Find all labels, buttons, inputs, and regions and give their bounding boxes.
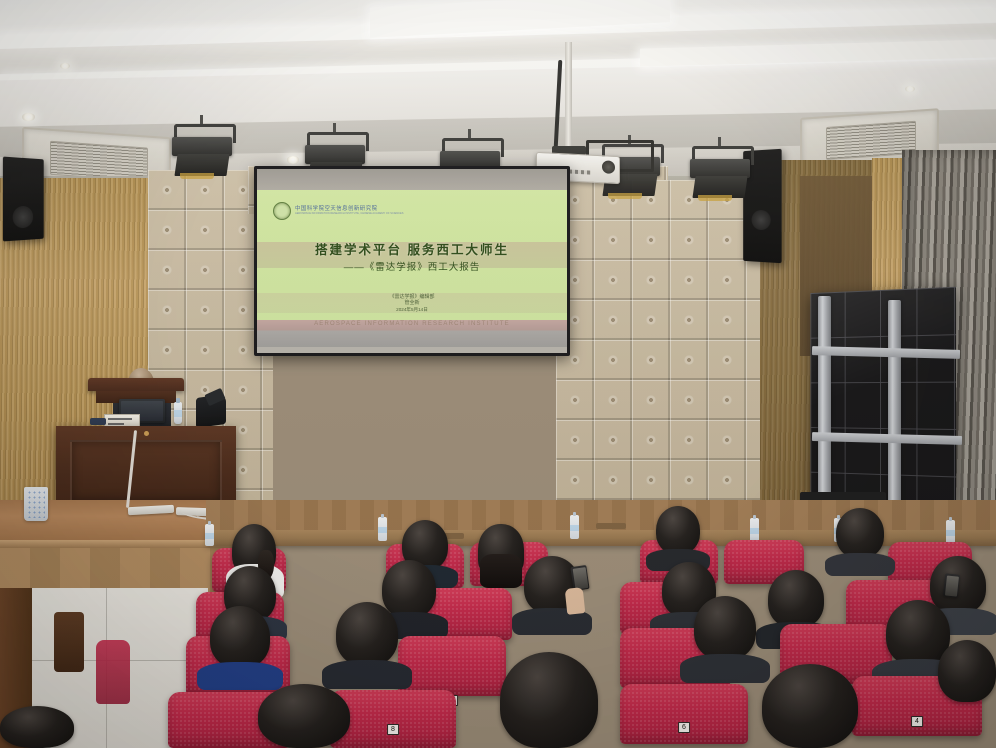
slide-org-subline: AEROSPACE INFORMATION RESEARCH INSTITUTE… [295,212,404,215]
seat-number: 6 [678,722,690,733]
screen-bottom-text: AEROSPACE INFORMATION RESEARCH INSTITUTE [257,320,567,329]
led-stand-post-right [888,300,901,530]
audience-person-foreground [762,664,858,748]
audience-person [656,506,700,554]
downlight [22,113,35,121]
audience-person [210,606,270,668]
audience-person [938,640,996,702]
seat[interactable]: 4 [398,636,506,696]
screen-unlit-top [257,169,567,191]
desk-object [90,418,106,425]
audience-person [694,596,756,660]
water-bottle-podium [174,402,182,424]
hand [565,587,586,615]
audience-person-foreground [0,706,74,748]
audience-person [836,508,884,558]
downlight [905,86,915,92]
water-bottle [750,518,759,542]
institute-logo-icon [273,202,291,220]
stage-light [690,146,752,202]
audience-person-foreground [258,684,350,748]
slide-subtitle: ——《雷达学报》西工大报告 [257,262,567,274]
water-bottle [946,520,955,544]
seat-number: 8 [387,724,399,735]
screen-lower-band: AEROSPACE INFORMATION RESEARCH INSTITUTE [257,320,567,347]
podium-header [88,378,184,391]
waste-bin [24,487,48,521]
auditorium-photo: 中国科学院空天信息创新研究院 AEROSPACE INFORMATION RES… [0,0,996,748]
smartphone[interactable] [943,573,960,597]
desk-handle [596,523,626,529]
seat-number: 4 [911,716,923,727]
projector-mount-pole [565,42,572,150]
projection-screen: 中国科学院空天信息创新研究院 AEROSPACE INFORMATION RES… [254,166,570,356]
audience-person [768,570,824,628]
slide-foot-date: 2024年5月14日 [257,307,567,313]
slide-title: 搭建学术平台 服务西工大师生 [257,243,567,258]
led-panel-wall [810,287,956,504]
stage-light [172,124,234,180]
aisle-seat[interactable] [96,640,130,704]
downlight [60,63,70,69]
audience-person [336,602,398,666]
loudspeaker-left [3,157,44,242]
aisle-seat-arm[interactable] [54,612,84,672]
water-bottle [205,524,214,546]
seat[interactable]: 6 [620,684,748,744]
audience-person [478,524,524,576]
slide-content: 中国科学院空天信息创新研究院 AEROSPACE INFORMATION RES… [257,190,567,320]
downlight [287,156,299,164]
water-bottle [378,517,387,541]
water-bottle [570,515,579,539]
audience-person-foreground [500,652,598,748]
